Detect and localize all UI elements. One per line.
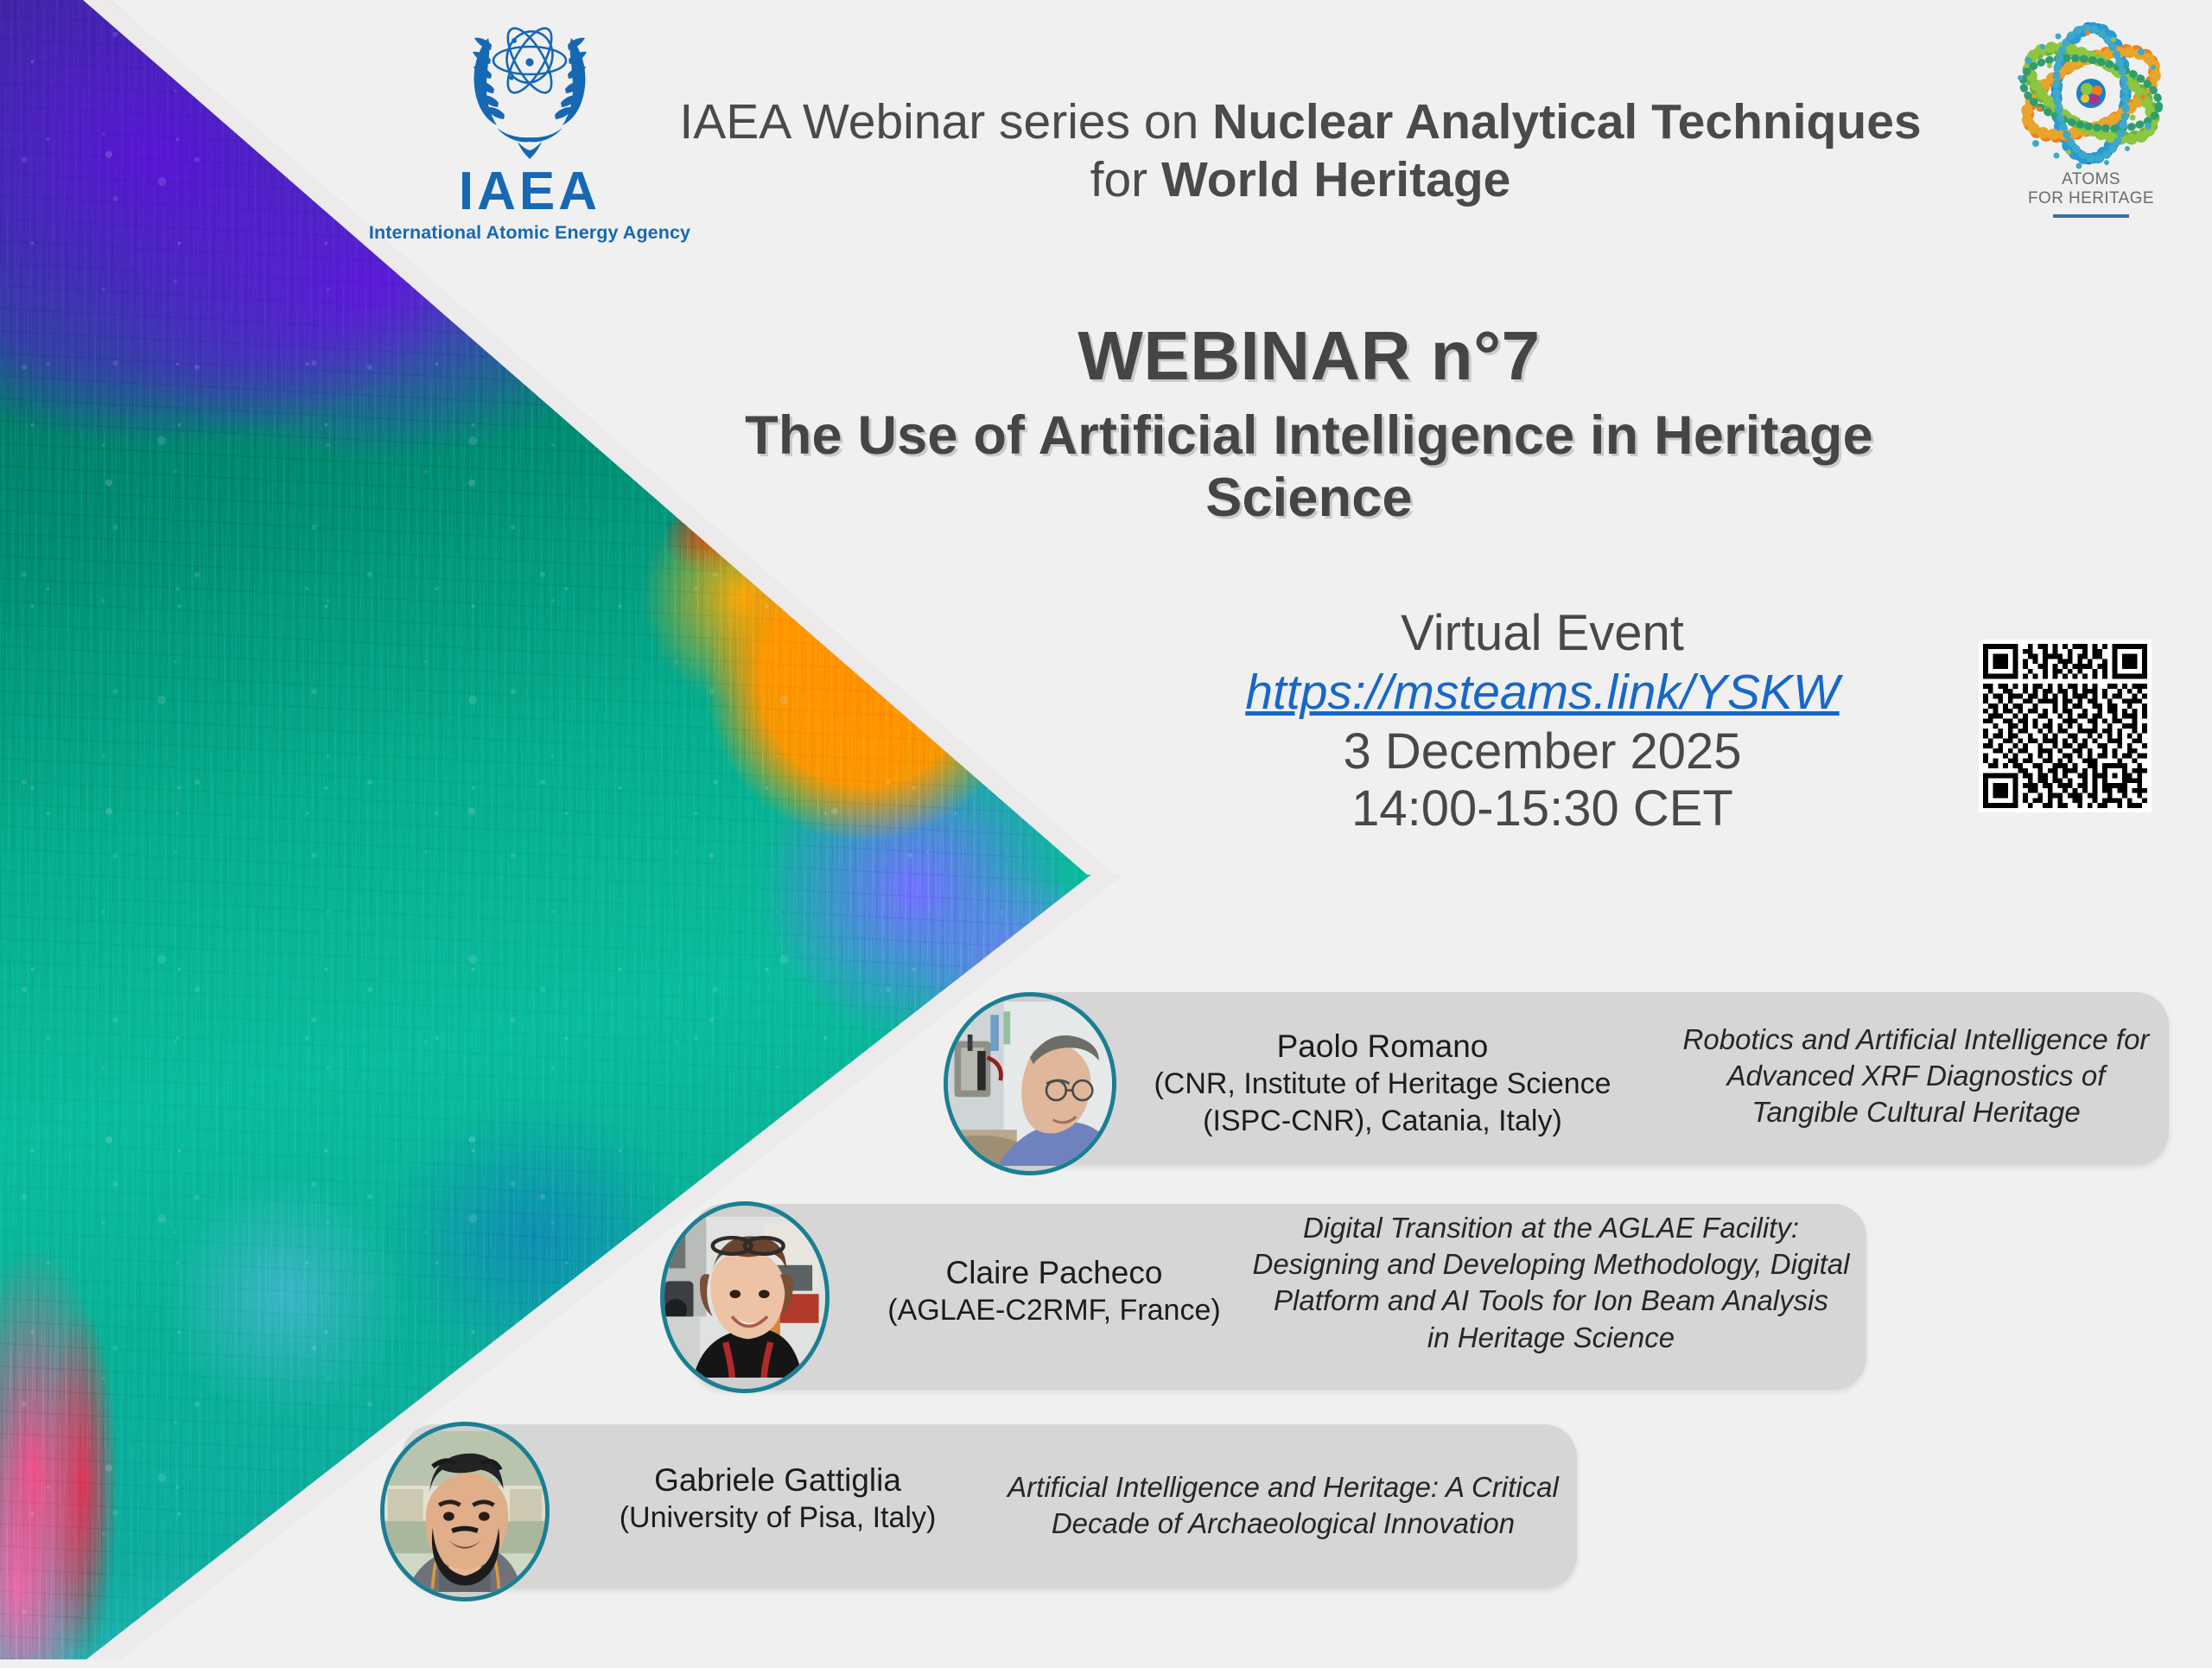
event-link[interactable]: https://msteams.link/YSKW (1184, 664, 1901, 722)
series-title-bold-2: World Heritage (1161, 152, 1510, 207)
atoms-for-heritage-logo: ATOMS FOR HERITAGE (1992, 14, 2190, 218)
qr-code-matrix (1983, 644, 2147, 808)
speaker-name: Paolo Romano (1115, 1027, 1650, 1066)
afh-line-2: FOR HERITAGE (1992, 189, 2190, 208)
speaker-affiliation-line-1: (CNR, Institute of Heritage Science (1115, 1066, 1650, 1103)
talk-line-4: in Heritage Science (1244, 1320, 1858, 1356)
speaker-talk-title: Artificial Intelligence and Heritage: A … (985, 1469, 1581, 1542)
artwork-speckle-texture (0, 0, 1123, 1659)
multicolor-atom-icon (2005, 14, 2177, 174)
avatar (660, 1201, 829, 1393)
speaker-name: Claire Pacheco (847, 1253, 1262, 1292)
artwork-wedge (0, 0, 1123, 1659)
webinar-headline: WEBINAR n°7 The Use of Artificial Intell… (674, 318, 1944, 530)
event-time: 14:00-15:30 CET (1184, 780, 1901, 837)
avatar (944, 992, 1116, 1175)
event-date: 3 December 2025 (1184, 723, 1901, 780)
iaea-full-name: International Atomic Energy Agency (353, 222, 707, 244)
talk-line-1: Digital Transition at the AGLAE Facility… (1244, 1210, 1858, 1246)
avatar (380, 1422, 550, 1601)
portrait-paolo-romano (948, 996, 1112, 1171)
speaker-talk-title: Robotics and Artificial Intelligence for… (1655, 1022, 2177, 1131)
series-title-bold-1: Nuclear Analytical Techniques (1212, 94, 1921, 150)
atoms-for-heritage-text: ATOMS FOR HERITAGE (1992, 170, 2190, 209)
series-title-light-2: for (1090, 152, 1161, 207)
speaker-identity: Gabriele Gattiglia (University of Pisa, … (553, 1461, 1002, 1537)
talk-line-2: Advanced XRF Diagnostics of (1655, 1058, 2177, 1094)
talk-line-1: Robotics and Artificial Intelligence for (1655, 1022, 2177, 1058)
speaker-affiliation-line-2: (ISPC-CNR), Catania, Italy) (1115, 1103, 1650, 1140)
talk-line-3: Tangible Cultural Heritage (1655, 1094, 2177, 1130)
talk-line-2: Designing and Developing Methodology, Di… (1244, 1246, 1858, 1283)
talk-line-2: Decade of Archaeological Innovation (985, 1506, 1581, 1542)
speaker-identity: Claire Pacheco (AGLAE-C2RMF, France) (847, 1253, 1262, 1329)
portrait-claire-pacheco (664, 1206, 825, 1389)
afh-underline-rule (2053, 214, 2129, 218)
series-title-light-1: IAEA Webinar series on (679, 94, 1212, 150)
afh-line-1: ATOMS (1992, 170, 2190, 189)
speaker-affiliation-line-1: (AGLAE-C2RMF, France) (847, 1292, 1262, 1329)
event-mode: Virtual Event (1184, 605, 1901, 662)
portrait-gabriele-gattiglia (385, 1426, 545, 1597)
talk-line-3: Platform and AI Tools for Ion Beam Analy… (1244, 1283, 1858, 1319)
series-title: IAEA Webinar series on Nuclear Analytica… (639, 93, 1961, 210)
speaker-affiliation-line-1: (University of Pisa, Italy) (553, 1499, 1002, 1537)
speaker-name: Gabriele Gattiglia (553, 1461, 1002, 1499)
iaea-laurel-atom-emblem (443, 12, 616, 163)
talk-line-1: Artificial Intelligence and Heritage: A … (985, 1469, 1581, 1506)
event-details: Virtual Event https://msteams.link/YSKW … (1184, 605, 1901, 838)
speaker-talk-title: Digital Transition at the AGLAE Facility… (1244, 1210, 1858, 1356)
qr-code-icon[interactable] (1979, 640, 2152, 812)
webinar-subject: The Use of Artificial Intelligence in He… (674, 404, 1944, 530)
speaker-identity: Paolo Romano (CNR, Institute of Heritage… (1115, 1027, 1650, 1140)
webinar-number: WEBINAR n°7 (674, 318, 1944, 394)
